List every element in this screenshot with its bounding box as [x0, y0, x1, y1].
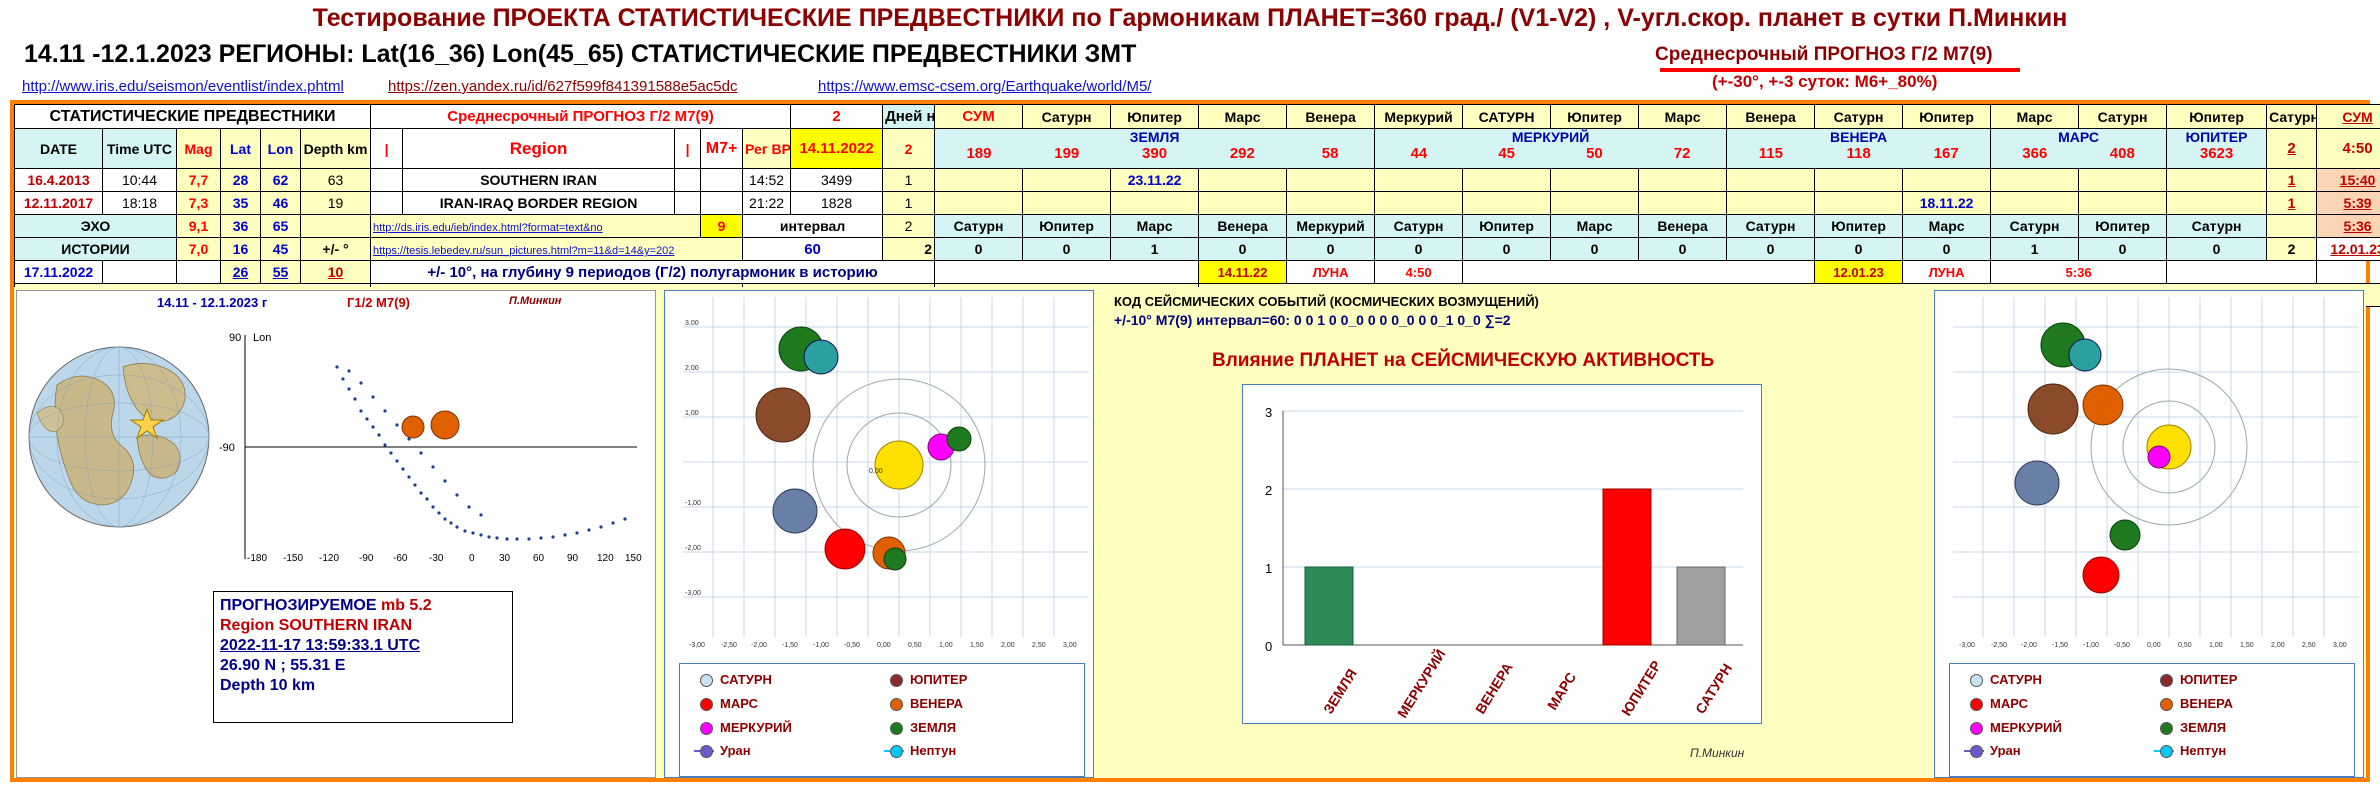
bot-gap2: [1463, 261, 1815, 284]
row1-c10: [1815, 192, 1903, 215]
row0-sum: 1: [883, 169, 935, 192]
row0-c8: [1639, 169, 1727, 192]
right-legend: САТУРН ЮПИТЕР МАРС ВЕНЕРА МЕРКУРИЙ ЗЕМЛЯ…: [1949, 663, 2355, 777]
ph-top-12: Сатурн: [2079, 105, 2167, 129]
influence-author: П.Минкин: [1690, 746, 1744, 760]
row1-c6: [1463, 192, 1551, 215]
table-column-header-row: DATE Time UTC Mag Lat Lon Depth km | Reg…: [15, 129, 2380, 169]
zero-11: 0: [1903, 238, 1991, 261]
info-line5: Depth 10 km: [220, 676, 506, 696]
row0-m7: [701, 169, 743, 192]
code-line1: КОД СЕЙСМИЧЕСКИХ СОБЫТИЙ (КОСМИЧЕСКИХ ВО…: [1114, 294, 1539, 309]
ph-top-13: Юпитер: [2167, 105, 2267, 129]
legend-label-earth: ЗЕМЛЯ: [2180, 720, 2226, 735]
svg-text:-0,50: -0,50: [844, 642, 860, 649]
banner-days: Дней на: [883, 105, 935, 129]
group-merkuriy-v3: 72: [1638, 145, 1726, 162]
zero-13: 0: [2079, 238, 2167, 261]
group-zemlya-v1: 199: [1023, 145, 1111, 162]
row1-bar: [371, 192, 403, 215]
mid-legend: САТУРН ЮПИТЕР МАРС ВЕНЕРА МЕРКУРИЙ ЗЕМЛЯ…: [679, 663, 1085, 777]
svg-text:3,00: 3,00: [1063, 642, 1077, 649]
legend-label-venus: ВЕНЕРА: [2180, 696, 2233, 711]
zero-7: 0: [1551, 238, 1639, 261]
page-title: Тестирование ПРОЕКТА СТАТИСТИЧЕСКИЕ ПРЕД…: [0, 4, 2380, 33]
svg-text:90: 90: [567, 553, 579, 564]
svg-text:0: 0: [1265, 639, 1272, 654]
link-emsc[interactable]: https://www.emsc-csem.org/Earthquake/wor…: [818, 78, 1151, 95]
echo-sum: 2: [883, 215, 935, 238]
bot-d1: 14.11.22: [1199, 261, 1287, 284]
row0-days: 3499: [791, 169, 883, 192]
group-merkuriy-v2: 50: [1551, 145, 1639, 162]
info-line4: 26.90 N ; 55.31 E: [220, 656, 506, 676]
quake-scatter: 90 Lon -90 -180-150-120 -90-60-30 03060 …: [217, 327, 647, 587]
row1-time: 18:18: [103, 192, 177, 215]
group-merkuriy-name: МЕРКУРИЙ: [1375, 129, 1726, 145]
svg-text:150: 150: [625, 553, 642, 564]
group-zemlya-v4: 58: [1286, 145, 1374, 162]
row0-luna: 15:40: [2317, 169, 2380, 192]
svg-text:2,50: 2,50: [2302, 642, 2316, 649]
group-venera-name: ВЕНЕРА: [1727, 129, 1990, 145]
svg-text:90: 90: [229, 332, 241, 344]
row0-depth: 63: [301, 169, 371, 192]
col-region: Region: [403, 129, 675, 169]
row1-c9: [1727, 192, 1815, 215]
globe-image: [27, 325, 212, 580]
zero-0: 0: [935, 238, 1023, 261]
svg-text:120: 120: [597, 553, 614, 564]
map-caption-1: 14.11 - 12.1.2023 г: [157, 295, 267, 310]
svg-text:-90: -90: [359, 553, 374, 564]
group-venera-v2: 167: [1902, 145, 1990, 162]
row1-bar2: [675, 192, 701, 215]
forecast-label: Среднесрочный ПРОГНОЗ Г/2 М7(9): [1655, 44, 1993, 66]
forecast-note: (+-30°, +-3 суток: M6+_80%): [1712, 72, 1937, 92]
svg-text:-120: -120: [319, 553, 339, 564]
row0-c12: [1991, 169, 2079, 192]
ph-bot-7: Марс: [1551, 215, 1639, 238]
group-mars-v0: 366: [1991, 145, 2079, 162]
row1-region: IRAN-IRAQ BORDER REGION: [403, 192, 675, 215]
bot-depth: 10: [301, 261, 371, 284]
bot-lon: 55: [261, 261, 301, 284]
row0-c3: [1199, 169, 1287, 192]
echo-depth: [301, 215, 371, 238]
svg-text:0,00: 0,00: [869, 468, 883, 475]
code-line2: +/-10° M7(9) интервал=60: 0 0 1 0 0_0 0 …: [1114, 312, 1511, 328]
svg-text:-3,00: -3,00: [689, 642, 705, 649]
history-row: ИСТОРИИ 7,0 16 45 +/- ° https://tesis.le…: [15, 238, 2380, 261]
world-map-panel: 14.11 - 12.1.2023 г Г1/2 М7(9) П.Минкин: [16, 290, 656, 778]
sum-header: СУМ: [2317, 105, 2380, 129]
svg-text:-3,00: -3,00: [1959, 642, 1975, 649]
legend-dot-uranus-icon: [1970, 745, 1983, 758]
table-banner-row: СТАТИСТИЧЕСКИЕ ПРЕДВЕСТНИКИ Среднесрочны…: [15, 105, 2380, 129]
hist-lon: 45: [261, 238, 301, 261]
legend-dot-mars-icon: [700, 698, 713, 711]
col-mag: Mag: [177, 129, 221, 169]
link-iris[interactable]: http://www.iris.edu/seismon/eventlist/in…: [22, 78, 344, 95]
group-jupiter-name: ЮПИТЕР: [2167, 129, 2266, 145]
row0-bar: [371, 169, 403, 192]
row1-date: 12.11.2017: [15, 192, 103, 215]
row1-c2: [1111, 192, 1199, 215]
col-lon: Lon: [261, 129, 301, 169]
col-date: DATE: [15, 129, 103, 169]
ph-top-11: Марс: [1991, 105, 2079, 129]
group-merkuriy-v0: 44: [1375, 145, 1463, 162]
svg-text:Lon: Lon: [253, 332, 271, 344]
row1-c13: [2079, 192, 2167, 215]
echo-row: ЭХО 9,1 36 65 http://ds.iris.edu/ieb/ind…: [15, 215, 2380, 238]
echo-rsum: [2267, 215, 2317, 238]
legend-label-saturn: САТУРН: [1990, 672, 2042, 687]
ph-bot-12: Сатурн: [1991, 215, 2079, 238]
bottom-note-row: 17.11.2022 26 55 10 +/- 10°, на глубину …: [15, 261, 2380, 284]
legend-label-venus: ВЕНЕРА: [910, 696, 963, 711]
influence-panel: КОД СЕЙСМИЧЕСКИХ СОБЫТИЙ (КОСМИЧЕСКИХ ВО…: [1102, 290, 1942, 778]
group-zemlya: ЗЕМЛЯ 189 199 390 292 58: [935, 129, 1375, 169]
bot-l1: ЛУНА: [1287, 261, 1375, 284]
ph-top-9: Сатурн: [1815, 105, 1903, 129]
row1-c4: [1287, 192, 1375, 215]
row1-lat: 35: [221, 192, 261, 215]
group-mars-v1: 408: [2079, 145, 2167, 162]
row0-c2: 23.11.22: [1111, 169, 1199, 192]
ph-top-10: Юпитер: [1903, 105, 1991, 129]
group-venera: ВЕНЕРА 115 118 167: [1727, 129, 1991, 169]
predicted-event-infobox: ПРОГНОЗИРУЕМОЕ mb 5.2 Region SOUTHERN IR…: [213, 591, 513, 723]
col-sum: 2: [883, 129, 935, 169]
hist-lat: 16: [221, 238, 261, 261]
row1-c12: [1991, 192, 2079, 215]
row1-mag: 7,3: [177, 192, 221, 215]
ph-bot-5: Сатурн: [1375, 215, 1463, 238]
legend-dot-mercury-icon: [700, 722, 713, 735]
group-zemlya-v0: 189: [935, 145, 1023, 162]
zero-10: 0: [1815, 238, 1903, 261]
group-zemlya-v3: 292: [1198, 145, 1286, 162]
row1-c5: [1375, 192, 1463, 215]
row0-lat: 28: [221, 169, 261, 192]
row0-time: 10:44: [103, 169, 177, 192]
zero-2: 1: [1111, 238, 1199, 261]
planets-scatter-mid: -3,00-2,50-2,00 -1,50-1,00-0,50 0,000,50…: [664, 290, 1094, 778]
predictors-table: СТАТИСТИЧЕСКИЕ ПРЕДВЕСТНИКИ Среднесрочны…: [14, 104, 2380, 307]
ph-top-8: Венера: [1727, 105, 1815, 129]
col-lat: Lat: [221, 129, 261, 169]
svg-text:-30: -30: [429, 553, 444, 564]
svg-text:1,00: 1,00: [2209, 642, 2223, 649]
svg-text:-60: -60: [393, 553, 408, 564]
row0-c0: [935, 169, 1023, 192]
svg-text:0: 0: [469, 553, 475, 564]
echo-label: ЭХО: [15, 215, 177, 238]
echo-lon: 65: [261, 215, 301, 238]
svg-text:3,00: 3,00: [2333, 642, 2347, 649]
svg-text:-2,00: -2,00: [2021, 642, 2037, 649]
col-bar: |: [371, 129, 403, 169]
group-jupiter-v0: 3623: [2167, 145, 2266, 162]
hist-rsum: 2: [2267, 238, 2317, 261]
group-zemlya-name: ЗЕМЛЯ: [935, 129, 1374, 145]
bot-l2: ЛУНА: [1903, 261, 1991, 284]
zero-9: 0: [1727, 238, 1815, 261]
zero-6: 0: [1463, 238, 1551, 261]
ph-bot-1: Юпитер: [1023, 215, 1111, 238]
row0-bar2: [675, 169, 701, 192]
ph-top-2: Марс: [1199, 105, 1287, 129]
legend-label-neptune: Нептун: [910, 743, 956, 758]
ph-bot-8: Венера: [1639, 215, 1727, 238]
row1-lon: 46: [261, 192, 301, 215]
svg-text:-90: -90: [219, 442, 235, 454]
echo-region-link[interactable]: http://ds.iris.edu/ieb/index.html?format…: [373, 222, 603, 234]
svg-text:-1,00: -1,00: [813, 642, 829, 649]
legend-dot-venus-icon: [890, 698, 903, 711]
svg-text:-0,50: -0,50: [2114, 642, 2130, 649]
bot-blank: [103, 261, 177, 284]
banner-left: СТАТИСТИЧЕСКИЕ ПРЕДВЕСТНИКИ: [15, 105, 371, 129]
map-author: П.Минкин: [509, 295, 561, 307]
echo-luna: 5:36: [2317, 215, 2380, 238]
ph-bot-6: Юпитер: [1463, 215, 1551, 238]
bot-t2: 5:36: [1991, 261, 2167, 284]
ph-top-6: Юпитер: [1551, 105, 1639, 129]
svg-text:2: 2: [1265, 483, 1272, 498]
ph-bot-3: Венера: [1199, 215, 1287, 238]
legend-dot-neptune-icon: [890, 745, 903, 758]
row1-c14: [2167, 192, 2267, 215]
legend-dot-mercury-icon: [1970, 722, 1983, 735]
col-time: Time UTC: [103, 129, 177, 169]
col-bar2: |: [675, 129, 701, 169]
svg-text:0,50: 0,50: [2178, 642, 2192, 649]
svg-text:-1,00: -1,00: [685, 500, 701, 507]
hist-luna: 12.01.23: [2317, 238, 2380, 261]
row1-sum: 1: [883, 192, 935, 215]
legend-dot-mars-icon: [1970, 698, 1983, 711]
hist-depth: +/- °: [301, 238, 371, 261]
ph-bot-10: Юпитер: [1815, 215, 1903, 238]
legend-label-jupiter: ЮПИТЕР: [2180, 672, 2237, 687]
group-mars-name: МАРС: [1991, 129, 2166, 145]
hist-label: ИСТОРИИ: [15, 238, 177, 261]
legend-dot-jupiter-icon: [2160, 674, 2173, 687]
hist-mag: 7,0: [177, 238, 221, 261]
bar-chart-svg: 3210 ЗЕМЛЯ МЕРКУРИЙ ВЕНЕРА МАРС ЮПИТЕР С…: [1243, 385, 1761, 723]
banner-mid: Среднесрочный ПРОГНОЗ Г/2 М7(9): [371, 105, 791, 129]
row0-c10: [1815, 169, 1903, 192]
svg-text:0,00: 0,00: [877, 642, 891, 649]
svg-text:30: 30: [499, 553, 511, 564]
svg-text:-150: -150: [283, 553, 303, 564]
row0-c1: [1023, 169, 1111, 192]
ph-top-5: САТУРН: [1463, 105, 1551, 129]
svg-text:3,00: 3,00: [685, 320, 699, 327]
legend-label-mercury: МЕРКУРИЙ: [720, 720, 792, 735]
legend-dot-saturn-icon: [1970, 674, 1983, 687]
svg-text:-1,50: -1,50: [782, 642, 798, 649]
bot-note: +/- 10°, на глубину 9 периодов (Г/2) пол…: [371, 261, 935, 284]
svg-text:1,50: 1,50: [970, 642, 984, 649]
legend-label-uranus: Уран: [720, 743, 751, 758]
zero-14: 0: [2167, 238, 2267, 261]
bot-lat: 26: [221, 261, 261, 284]
ph-top-7: Марс: [1639, 105, 1727, 129]
row0-c5: [1375, 169, 1463, 192]
row0-c11: [1903, 169, 1991, 192]
row1-days: 1828: [791, 192, 883, 215]
group-merkuriy-v1: 45: [1463, 145, 1551, 162]
bot-gap3: [2167, 261, 2317, 284]
banner-sum: СУМ: [935, 105, 1023, 129]
ph-top-3: Венера: [1287, 105, 1375, 129]
group-mars: МАРС 366 408: [1991, 129, 2167, 169]
info-line1: ПРОГНОЗИРУЕМОЕ: [220, 597, 377, 614]
ph-bot-11: Марс: [1903, 215, 1991, 238]
svg-text:2,00: 2,00: [2271, 642, 2285, 649]
row0-c14: [2167, 169, 2267, 192]
svg-text:-1,00: -1,00: [2083, 642, 2099, 649]
row0-c6: [1463, 169, 1551, 192]
svg-text:2,50: 2,50: [1032, 642, 1046, 649]
row0-c13: [2079, 169, 2167, 192]
row1-rsum: 1: [2267, 192, 2317, 215]
svg-text:-2,00: -2,00: [751, 642, 767, 649]
svg-text:-2,50: -2,50: [1991, 642, 2007, 649]
col-m7: M7+: [701, 129, 743, 169]
svg-text:0,00: 0,00: [2147, 642, 2161, 649]
svg-text:0,50: 0,50: [908, 642, 922, 649]
group-merkuriy: МЕРКУРИЙ 44 45 50 72: [1375, 129, 1727, 169]
planets-scatter-right: -3,00-2,50-2,00 -1,50-1,00-0,50 0,000,50…: [1934, 290, 2364, 778]
svg-text:60: 60: [533, 553, 545, 564]
echo-regtime: 9: [701, 215, 743, 238]
hist-days: 60: [743, 238, 883, 261]
table-row[interactable]: 12.11.2017 18:18 7,3 35 46 19 IRAN-IRAQ …: [15, 192, 2380, 215]
svg-text:2,00: 2,00: [685, 365, 699, 372]
col-dayson: 14.11.2022: [791, 129, 883, 169]
legend-label-saturn: САТУРН: [720, 672, 772, 687]
info-line2: Region SOUTHERN IRAN: [220, 616, 506, 636]
bot-blank2: [177, 261, 221, 284]
row1-luna: 5:39: [2317, 192, 2380, 215]
echo-days: интервал: [743, 215, 883, 238]
banner-count: 2: [791, 105, 883, 129]
legend-label-jupiter: ЮПИТЕР: [910, 672, 967, 687]
svg-text:3: 3: [1265, 405, 1272, 420]
row1-c0: [935, 192, 1023, 215]
bot-d2: 12.01.23: [1815, 261, 1903, 284]
row1-depth: 19: [301, 192, 371, 215]
ph-top-1: Юпитер: [1111, 105, 1199, 129]
row1-c3: [1199, 192, 1287, 215]
ph-bot-13: Юпитер: [2079, 215, 2167, 238]
row0-rsum: 1: [2267, 169, 2317, 192]
ph-top-4: Меркурий: [1375, 105, 1463, 129]
zero-3: 0: [1199, 238, 1287, 261]
map-caption-2: Г1/2 М7(9): [347, 295, 410, 310]
bot-t1: 4:50: [1375, 261, 1463, 284]
svg-text:2,00: 2,00: [1001, 642, 1015, 649]
table-row[interactable]: 16.4.2013 10:44 7,7 28 62 63 SOUTHERN IR…: [15, 169, 2380, 192]
ph-top-0: Сатурн: [1023, 105, 1111, 129]
right-scatter-svg: -3,00-2,50-2,00 -1,50-1,00-0,50 0,000,50…: [1953, 297, 2359, 657]
legend-dot-earth-icon: [2160, 722, 2173, 735]
group-sum: 2: [2267, 129, 2317, 169]
ph-bot-9: Сатурн: [1727, 215, 1815, 238]
row0-date: 16.4.2013: [15, 169, 103, 192]
zero-12: 1: [1991, 238, 2079, 261]
legend-label-uranus: Уран: [1990, 743, 2021, 758]
svg-text:-2,50: -2,50: [721, 642, 737, 649]
row0-region: SOUTHERN IRAN: [403, 169, 675, 192]
col-depth: Depth km: [301, 129, 371, 169]
row1-c8: [1639, 192, 1727, 215]
row0-regtime: 14:52: [743, 169, 791, 192]
group-jupiter: ЮПИТЕР 3623: [2167, 129, 2267, 169]
legend-dot-neptune-icon: [2160, 745, 2173, 758]
hist-sum: 2: [883, 238, 935, 261]
legend-dot-jupiter-icon: [890, 674, 903, 687]
row0-mag: 7,7: [177, 169, 221, 192]
legend-dot-saturn-icon: [700, 674, 713, 687]
row0-lon: 62: [261, 169, 301, 192]
row1-m7: [701, 192, 743, 215]
info-line3: 2022-11-17 13:59:33.1 UTC: [220, 636, 506, 656]
ph-bot-4: Меркурий: [1287, 215, 1375, 238]
influence-bar-chart: 3210 ЗЕМЛЯ МЕРКУРИЙ ВЕНЕРА МАРС ЮПИТЕР С…: [1242, 384, 1762, 724]
info-mb: mb 5.2: [381, 597, 432, 614]
row0-c4: [1287, 169, 1375, 192]
row0-c7: [1551, 169, 1639, 192]
svg-text:-1,50: -1,50: [2052, 642, 2068, 649]
col-regtime: Рег ВРЕМЯ: [743, 129, 791, 169]
svg-text:1,00: 1,00: [685, 410, 699, 417]
zero-4: 0: [1287, 238, 1375, 261]
bot-date: 17.11.2022: [15, 261, 103, 284]
zero-1: 0: [1023, 238, 1111, 261]
mid-scatter-svg: -3,00-2,50-2,00 -1,50-1,00-0,50 0,000,50…: [683, 297, 1089, 657]
legend-label-earth: ЗЕМЛЯ: [910, 720, 956, 735]
svg-text:-2,00: -2,00: [685, 545, 701, 552]
row1-c7: [1551, 192, 1639, 215]
echo-lat: 36: [221, 215, 261, 238]
svg-text:1,00: 1,00: [939, 642, 953, 649]
echo-mag: 9,1: [177, 215, 221, 238]
legend-dot-uranus-icon: [700, 745, 713, 758]
group-venera-v0: 115: [1727, 145, 1815, 162]
legend-label-neptune: Нептун: [2180, 743, 2226, 758]
ph-top-14: Сатурн: [2267, 105, 2317, 129]
hist-region-link[interactable]: https://tesis.lebedev.ru/sun_pictures.ht…: [373, 245, 674, 257]
bot-gap: [935, 261, 1199, 284]
group-zemlya-v2: 390: [1111, 145, 1199, 162]
svg-text:-180: -180: [247, 553, 267, 564]
zero-8: 0: [1639, 238, 1727, 261]
svg-text:1: 1: [1265, 561, 1272, 576]
link-zen[interactable]: https://zen.yandex.ru/id/627f599f8413915…: [388, 78, 737, 95]
ph-bot-14: Сатурн: [2167, 215, 2267, 238]
legend-label-mars: МАРС: [1990, 696, 2028, 711]
legend-dot-earth-icon: [890, 722, 903, 735]
row0-c9: [1727, 169, 1815, 192]
group-venera-v1: 118: [1815, 145, 1903, 162]
svg-text:-3,00: -3,00: [685, 590, 701, 597]
